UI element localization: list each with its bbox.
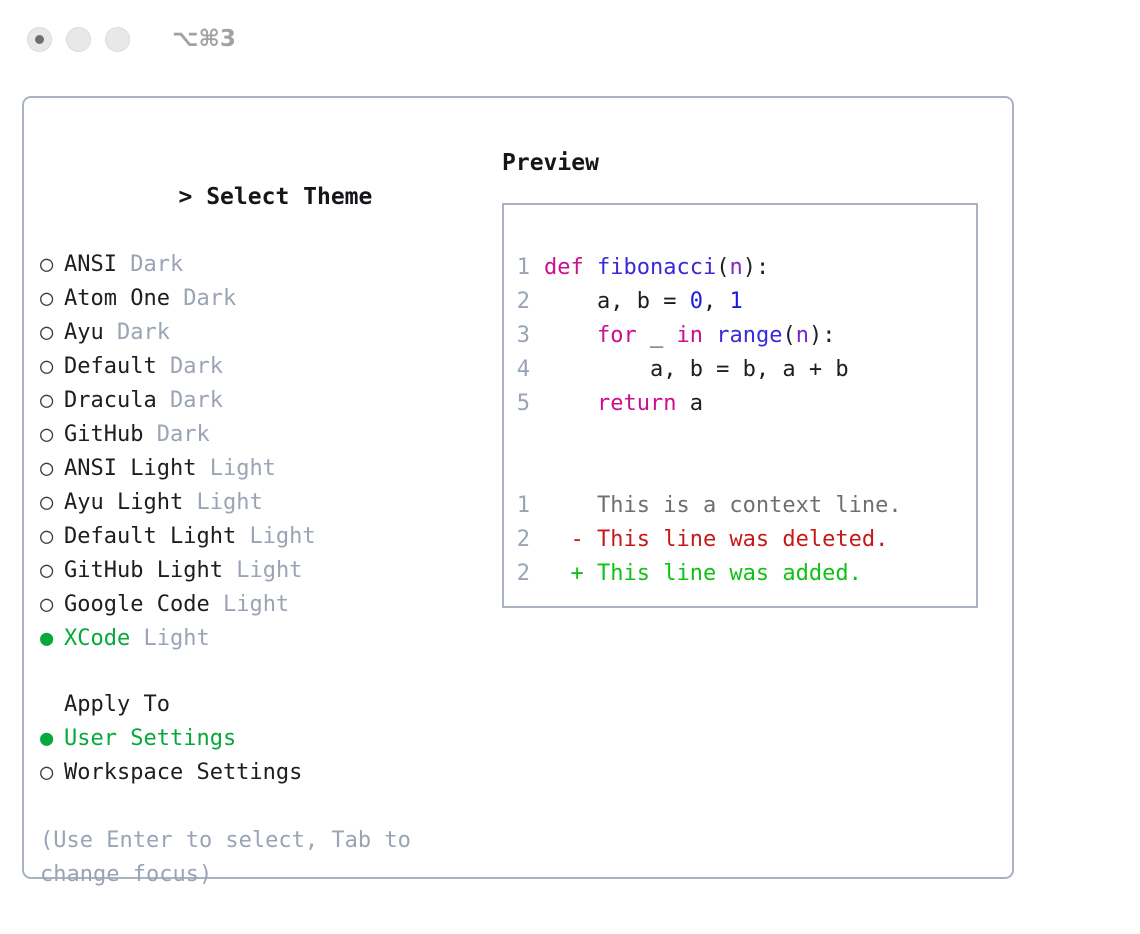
theme-option-tag: Light <box>210 452 276 486</box>
theme-option-label: GitHub Light <box>64 554 223 588</box>
diff-line-number: 2 <box>504 557 544 591</box>
theme-option-label: GitHub <box>64 418 143 452</box>
preview-column: Preview 1def fibonacci(n):2 a, b = 0, 13… <box>502 146 992 608</box>
code-token-plain: ( <box>782 323 795 348</box>
label-tag-gap <box>183 486 196 520</box>
label-tag-gap <box>130 622 143 656</box>
radio-unselected-icon: ○ <box>40 554 64 588</box>
theme-option-github[interactable]: ○GitHub Dark <box>40 418 470 452</box>
code-line-content: for _ in range(n): <box>544 319 835 353</box>
theme-option-label: Ayu Light <box>64 486 183 520</box>
label-tag-gap <box>104 316 117 350</box>
theme-option-tag: Dark <box>170 350 223 384</box>
theme-option-ansi-light[interactable]: ○ANSI Light Light <box>40 452 470 486</box>
code-line-number: 3 <box>504 319 544 353</box>
theme-option-ayu[interactable]: ○Ayu Dark <box>40 316 470 350</box>
theme-option-xcode[interactable]: ●XCode Light <box>40 622 470 656</box>
window-controls <box>27 27 130 52</box>
radio-unselected-icon: ○ <box>40 350 64 384</box>
theme-option-tag: Dark <box>130 248 183 282</box>
apply-option-workspace-settings[interactable]: ○Workspace Settings <box>40 756 470 790</box>
diff-line-text: This line was deleted. <box>597 527 888 552</box>
select-theme-heading: > Select Theme <box>40 146 470 248</box>
theme-option-tag: Light <box>236 554 302 588</box>
preview-heading: Preview <box>502 146 992 180</box>
code-token-plain: _ <box>650 323 677 348</box>
code-token-fn: fibonacci <box>597 255 716 280</box>
keyboard-shortcut-label: ⌥⌘3 <box>172 26 236 52</box>
code-line-content: a, b = 0, 1 <box>544 285 743 319</box>
code-line-content: return a <box>544 387 703 421</box>
theme-option-atom-one[interactable]: ○Atom One Dark <box>40 282 470 316</box>
diff-marker: - <box>544 527 597 552</box>
radio-unselected-icon: ○ <box>40 756 64 790</box>
code-token-kw: return <box>544 391 690 416</box>
theme-option-tag: Dark <box>170 384 223 418</box>
theme-option-tag: Light <box>143 622 209 656</box>
theme-option-label: ANSI <box>64 248 117 282</box>
theme-option-tag: Dark <box>117 316 170 350</box>
selection-caret-icon: > <box>178 184 192 210</box>
theme-option-default[interactable]: ○Default Dark <box>40 350 470 384</box>
code-blank-line <box>504 421 976 455</box>
window-dot-second[interactable] <box>66 27 91 52</box>
code-line-number: 5 <box>504 387 544 421</box>
theme-option-default-light[interactable]: ○Default Light Light <box>40 520 470 554</box>
code-line: 2 a, b = 0, 1 <box>504 285 976 319</box>
theme-selection-column: > Select Theme ○ANSI Dark○Atom One Dark○… <box>40 146 470 892</box>
theme-option-dracula[interactable]: ○Dracula Dark <box>40 384 470 418</box>
label-tag-gap <box>157 350 170 384</box>
diff-line-number: 1 <box>504 489 544 523</box>
theme-option-label: Dracula <box>64 384 157 418</box>
theme-option-tag: Dark <box>183 282 236 316</box>
diff-line-content: This is a context line. <box>544 489 902 523</box>
label-tag-gap <box>223 554 236 588</box>
code-token-plain: ): <box>809 323 836 348</box>
code-line: 4 a, b = b, a + b <box>504 353 976 387</box>
radio-unselected-icon: ○ <box>40 452 64 486</box>
radio-unselected-icon: ○ <box>40 384 64 418</box>
apply-to-option-list[interactable]: ●User Settings○Workspace Settings <box>40 722 470 790</box>
theme-picker-window: ⌥⌘3 > Select Theme ○ANSI Dark○Atom One D… <box>0 0 1140 934</box>
code-token-kw: in <box>676 323 716 348</box>
hint-spacer <box>40 790 470 824</box>
diff-line-content: + This line was added. <box>544 557 862 591</box>
label-tag-gap <box>117 248 130 282</box>
window-dot-active-indicator <box>35 35 44 44</box>
theme-option-tag: Light <box>196 486 262 520</box>
keyboard-hint-text: (Use Enter to select, Tab to change focu… <box>40 824 440 892</box>
code-token-num: 1 <box>729 289 742 314</box>
diff-line-ctx: 1 This is a context line. <box>504 489 976 523</box>
code-line-number: 1 <box>504 251 544 285</box>
theme-option-ansi[interactable]: ○ANSI Dark <box>40 248 470 282</box>
diff-line-content: - This line was deleted. <box>544 523 888 557</box>
apply-to-heading: Apply To <box>40 688 470 722</box>
code-token-num: 0 <box>690 289 703 314</box>
window-titlebar: ⌥⌘3 <box>0 0 1140 78</box>
theme-option-google-code[interactable]: ○Google Code Light <box>40 588 470 622</box>
window-dot-active[interactable] <box>27 27 52 52</box>
radio-unselected-icon: ○ <box>40 282 64 316</box>
code-line: 3 for _ in range(n): <box>504 319 976 353</box>
apply-option-label: Workspace Settings <box>64 756 302 790</box>
diff-line-text: This is a context line. <box>597 493 902 518</box>
theme-option-tag: Light <box>223 588 289 622</box>
radio-unselected-icon: ○ <box>40 520 64 554</box>
radio-unselected-icon: ○ <box>40 486 64 520</box>
theme-option-tag: Light <box>249 520 315 554</box>
theme-option-label: XCode <box>64 622 130 656</box>
apply-option-label: User Settings <box>64 722 236 756</box>
preview-code-box: 1def fibonacci(n):2 a, b = 0, 13 for _ i… <box>502 203 978 608</box>
code-line-number: 4 <box>504 353 544 387</box>
theme-option-github-light[interactable]: ○GitHub Light Light <box>40 554 470 588</box>
radio-unselected-icon: ○ <box>40 248 64 282</box>
code-token-kw: for <box>544 323 650 348</box>
diff-sample: 1 This is a context line.2 - This line w… <box>504 489 976 591</box>
theme-option-label: ANSI Light <box>64 452 196 486</box>
diff-marker <box>544 493 597 518</box>
code-token-fn: range <box>716 323 782 348</box>
select-theme-heading-label: Select Theme <box>206 184 372 210</box>
code-token-plain: a, b = <box>544 289 690 314</box>
code-line-content: a, b = b, a + b <box>544 353 849 387</box>
code-token-plain: a <box>690 391 703 416</box>
theme-option-label: Default Light <box>64 520 236 554</box>
section-spacer <box>40 656 470 688</box>
theme-option-list[interactable]: ○ANSI Dark○Atom One Dark○Ayu Dark○Defaul… <box>40 248 470 656</box>
code-token-plain: a, b = b, a + b <box>544 357 849 382</box>
label-tag-gap <box>170 282 183 316</box>
code-token-plain: ): <box>743 255 770 280</box>
code-line: 1def fibonacci(n): <box>504 251 976 285</box>
label-tag-gap <box>143 418 156 452</box>
diff-line-del: 2 - This line was deleted. <box>504 523 976 557</box>
theme-option-label: Default <box>64 350 157 384</box>
diff-marker: + <box>544 561 597 586</box>
theme-option-tag: Dark <box>157 418 210 452</box>
theme-option-label: Google Code <box>64 588 210 622</box>
label-tag-gap <box>210 588 223 622</box>
code-token-var: n <box>729 255 742 280</box>
radio-unselected-icon: ○ <box>40 316 64 350</box>
theme-option-label: Atom One <box>64 282 170 316</box>
radio-selected-icon: ● <box>40 722 64 756</box>
label-tag-gap <box>236 520 249 554</box>
code-sample: 1def fibonacci(n):2 a, b = 0, 13 for _ i… <box>504 251 976 421</box>
diff-line-number: 2 <box>504 523 544 557</box>
code-token-plain: , <box>703 289 730 314</box>
code-line-number: 2 <box>504 285 544 319</box>
code-token-var: n <box>796 323 809 348</box>
code-blank-line-2 <box>504 455 976 489</box>
window-dot-third[interactable] <box>105 27 130 52</box>
code-line: 5 return a <box>504 387 976 421</box>
theme-option-label: Ayu <box>64 316 104 350</box>
label-tag-gap <box>157 384 170 418</box>
main-panel: > Select Theme ○ANSI Dark○Atom One Dark○… <box>22 96 1014 879</box>
code-token-plain: ( <box>716 255 729 280</box>
radio-selected-icon: ● <box>40 622 64 656</box>
diff-line-add: 2 + This line was added. <box>504 557 976 591</box>
radio-unselected-icon: ○ <box>40 418 64 452</box>
radio-unselected-icon: ○ <box>40 588 64 622</box>
code-line-content: def fibonacci(n): <box>544 251 769 285</box>
diff-line-text: This line was added. <box>597 561 862 586</box>
theme-option-ayu-light[interactable]: ○Ayu Light Light <box>40 486 470 520</box>
apply-option-user-settings[interactable]: ●User Settings <box>40 722 470 756</box>
label-tag-gap <box>196 452 209 486</box>
code-token-kw: def <box>544 255 597 280</box>
